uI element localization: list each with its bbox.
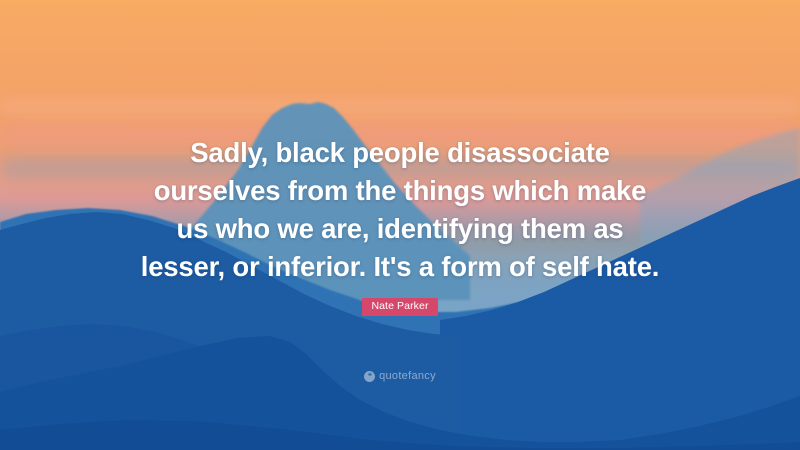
- quote-text: Sadly, black people disassociate ourselv…: [0, 134, 800, 286]
- watermark-label: quotefancy: [379, 371, 436, 382]
- quote-line: us who we are, identifying them as: [80, 210, 720, 248]
- watermark-icon-glyph: ❝: [368, 373, 371, 380]
- quote-mark-badge-icon: ❝: [364, 371, 375, 382]
- watermark-inner: ❝ quotefancy: [364, 371, 436, 382]
- author-name-badge[interactable]: Nate Parker: [362, 298, 437, 316]
- quote-line: Sadly, black people disassociate: [80, 134, 720, 172]
- author-attribution: Nate Parker: [0, 296, 800, 316]
- quote-line: lesser, or inferior. It's a form of self…: [80, 248, 720, 286]
- quote-line: ourselves from the things which make: [80, 172, 720, 210]
- watermark: ❝ quotefancy: [0, 365, 800, 383]
- quote-poster: Sadly, black people disassociate ourselv…: [0, 0, 800, 450]
